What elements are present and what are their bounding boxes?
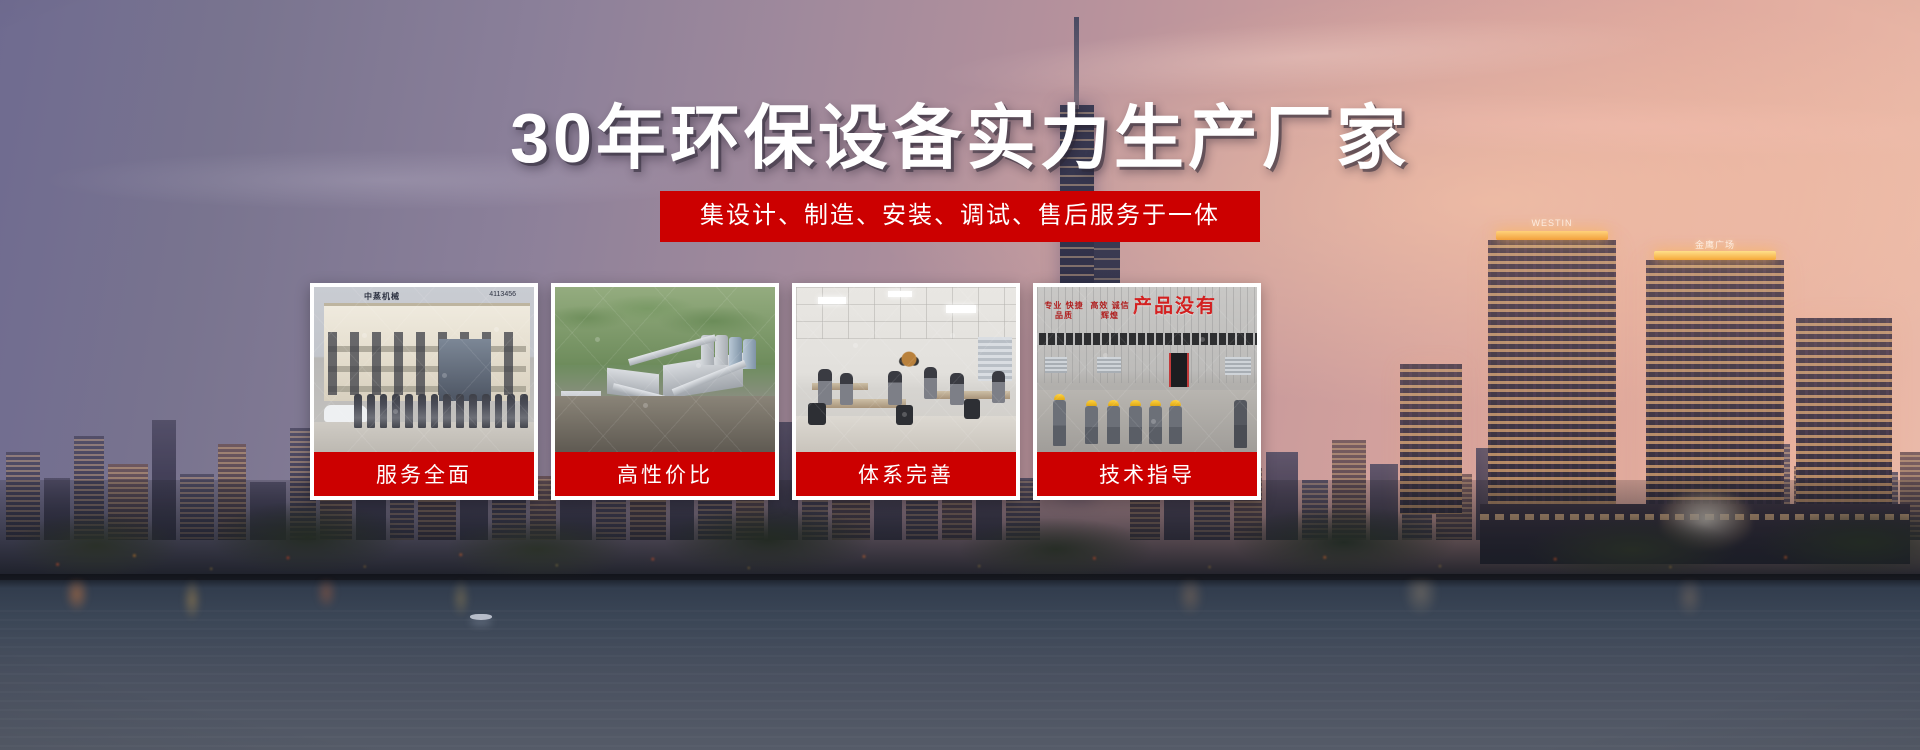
yangtze-river <box>0 580 1920 750</box>
card-photo-office-interior <box>796 287 1016 452</box>
tower-crown <box>1654 251 1775 260</box>
worker <box>1169 400 1182 444</box>
factory-window <box>1097 357 1121 373</box>
card-label: 技术指导 <box>1037 452 1257 496</box>
staff-member <box>818 369 832 405</box>
card-photo-headquarters: 中蒸机械 4113456 <box>314 287 534 452</box>
feature-card[interactable]: 高性价比 <box>551 283 779 500</box>
subtitle-container: 集设计、制造、安装、调试、售后服务于一体 <box>0 191 1920 242</box>
page-title: 30年环保设备实力生产厂家 <box>0 100 1920 177</box>
storage-silo <box>715 335 728 365</box>
staff-member <box>924 367 937 399</box>
office-chair <box>964 399 980 419</box>
subtitle-badge: 集设计、制造、安装、调试、售后服务于一体 <box>660 191 1260 242</box>
worker <box>1107 400 1120 444</box>
water-surface-sheen <box>0 610 1920 750</box>
wall-logo <box>892 343 926 369</box>
feature-card-list: 中蒸机械 4113456 服务全面 <box>310 283 1261 500</box>
building-sign-text: 中蒸机械 <box>364 291 400 302</box>
worker <box>1085 400 1098 444</box>
card-label: 服务全面 <box>314 452 534 496</box>
office-chair <box>808 403 826 425</box>
westin-tower: WESTIN <box>1488 240 1616 518</box>
feature-card[interactable]: 体系完善 <box>792 283 1020 500</box>
staff-member <box>950 373 964 405</box>
plant-yard <box>555 396 775 452</box>
factory-banner-text: 产品没有 <box>1133 291 1217 318</box>
staff-member <box>888 371 902 405</box>
factory-slogan-left: 专业 快捷品质 <box>1043 301 1085 321</box>
supervisor <box>1234 394 1247 448</box>
factory-door <box>1169 353 1189 387</box>
hero-banner: WESTIN 金鹰广场 30年环保设备实力生产厂家 集设计、制造、安装、调试、售… <box>0 0 1920 750</box>
factory-yard <box>1037 390 1257 452</box>
feature-card[interactable]: 中蒸机械 4113456 服务全面 <box>310 283 538 500</box>
worker <box>1129 400 1142 444</box>
card-photo-plant-aerial <box>555 287 775 452</box>
feature-card[interactable]: 产品没有 专业 快捷品质 高效 诚信辉煌 <box>1033 283 1261 500</box>
worker <box>1053 394 1066 446</box>
card-label: 体系完善 <box>796 452 1016 496</box>
card-label: 高性价比 <box>555 452 775 496</box>
wall-window-strip <box>1037 333 1257 345</box>
card-photo-factory-workers: 产品没有 专业 快捷品质 高效 诚信辉煌 <box>1037 287 1257 452</box>
staff-lineup <box>354 388 528 428</box>
building-phone-text: 4113456 <box>489 291 516 298</box>
worker <box>1149 400 1162 444</box>
factory-window <box>1045 357 1067 373</box>
office-chair <box>896 405 913 425</box>
staff-member <box>840 373 853 405</box>
office-building <box>324 303 530 401</box>
office-ceiling <box>796 287 1016 339</box>
factory-window <box>1225 357 1251 375</box>
factory-slogan-right: 高效 诚信辉煌 <box>1089 301 1131 321</box>
staff-member <box>992 371 1005 403</box>
